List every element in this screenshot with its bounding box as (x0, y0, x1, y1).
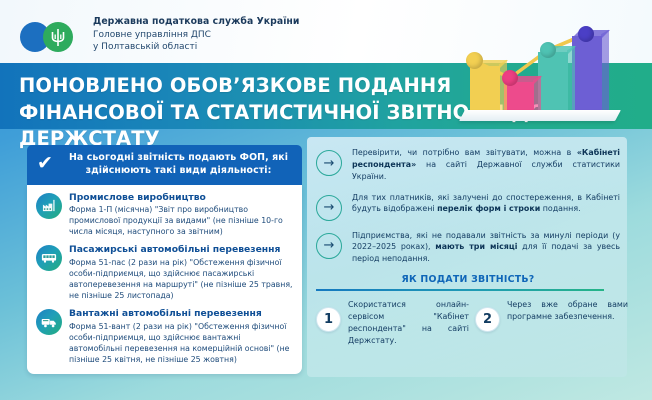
arrow-right-icon: → (316, 195, 342, 221)
activity-title: Промислове виробництво (69, 192, 293, 203)
chart-node-3 (540, 42, 556, 58)
step-item: 2 Через вже обране вами програмне забезп… (475, 299, 628, 346)
trident-icon (43, 22, 73, 52)
factory-icon (36, 193, 62, 219)
chart-node-1 (466, 52, 483, 69)
activity-item: Вантажні автомобільні перевезення Форма … (36, 308, 293, 365)
instruction-text: Для тих платників, які залучені до спост… (352, 192, 646, 221)
instruction-item: → Для тих платників, які залучені до спо… (316, 192, 646, 221)
activity-description: Форма 51-вант (2 рази на рік) "Обстеженн… (69, 321, 293, 365)
chart-node-2 (502, 70, 518, 86)
check-icon: ✔ (37, 154, 57, 172)
step-text: Скористатися онлайн-сервісом "Кабінет ре… (348, 299, 469, 346)
step-number-badge: 2 (475, 307, 500, 332)
bus-icon (36, 245, 62, 271)
instruction-text: Перевірити, чи потрібно вам звітувати, м… (352, 147, 646, 183)
instructions-panel: → Перевірити, чи потрібно вам звітувати,… (316, 147, 646, 347)
activity-description: Форма 51-пас (2 рази на рік) "Обстеження… (69, 257, 293, 301)
activity-item: Пасажирські автомобільні перевезення Фор… (36, 244, 293, 301)
activity-description: Форма 1-П (місячна) "Звіт про виробництв… (69, 204, 293, 237)
activity-text: Вантажні автомобільні перевезення Форма … (69, 308, 293, 365)
activity-text: Промислове виробництво Форма 1-П (місячн… (69, 192, 293, 238)
chart-baseline (459, 110, 621, 121)
steps-list: 1 Скористатися онлайн-сервісом "Кабінет … (316, 299, 646, 346)
organization-name: Державна податкова служба України Головн… (93, 16, 393, 52)
org-title-line2: Головне управління ДПС (93, 30, 393, 40)
instruction-text-bold: мають три місяці (435, 242, 517, 251)
instruction-item: → Перевірити, чи потрібно вам звітувати,… (316, 147, 646, 183)
infographic-page: Державна податкова служба України Головн… (0, 0, 652, 400)
activities-card-header: ✔ На сьогодні звітність подають ФОП, які… (27, 145, 302, 185)
activity-item: Промислове виробництво Форма 1-П (місячн… (36, 192, 293, 238)
bar-chart-illustration (452, 16, 652, 134)
how-to-submit-heading: ЯК ПОДАТИ ЗВІТНІСТЬ? (316, 274, 646, 285)
activity-title: Вантажні автомобільні перевезення (69, 308, 293, 319)
instruction-text-bold: перелік форм і строки (437, 204, 540, 213)
chart-node-4 (578, 26, 594, 42)
activities-card: ✔ На сьогодні звітність подають ФОП, які… (27, 145, 302, 374)
instruction-text: Підприємства, які не подавали звітність … (352, 230, 646, 266)
instruction-item: → Підприємства, які не подавали звітніст… (316, 230, 646, 266)
step-number-badge: 1 (316, 307, 341, 332)
org-title-line1: Державна податкова служба України (93, 16, 393, 27)
activities-card-body: Промислове виробництво Форма 1-П (місячн… (27, 185, 302, 374)
arrow-right-icon: → (316, 150, 342, 176)
activities-card-header-text: На сьогодні звітність подають ФОП, які з… (65, 151, 292, 178)
step-text: Через вже обране вами програмне забезпеч… (507, 299, 628, 346)
divider (316, 289, 604, 291)
instruction-text-post: подання. (540, 204, 580, 213)
chart-bar-4 (572, 36, 602, 120)
step-item: 1 Скористатися онлайн-сервісом "Кабінет … (316, 299, 469, 346)
activity-title: Пасажирські автомобільні перевезення (69, 244, 293, 255)
org-title-line3: у Полтавській області (93, 42, 393, 52)
instruction-text-pre: Перевірити, чи потрібно вам звітувати, м… (352, 148, 577, 157)
activity-text: Пасажирські автомобільні перевезення Фор… (69, 244, 293, 301)
logo (18, 22, 86, 52)
truck-icon (36, 309, 62, 335)
arrow-right-icon: → (316, 233, 342, 259)
